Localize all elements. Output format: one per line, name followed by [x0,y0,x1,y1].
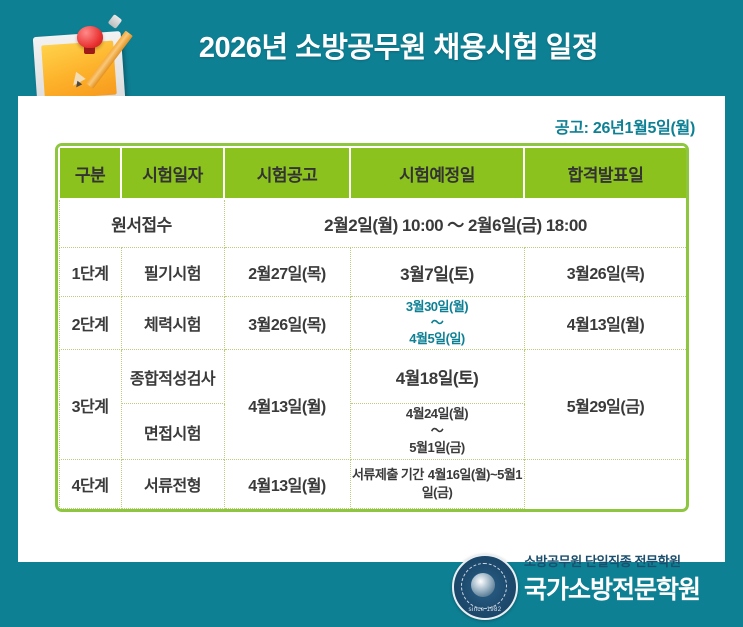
stage-3-exam-date-b-line3: 5월1일(금) [351,440,524,457]
emblem-since-text: since 1982 [454,607,516,613]
application-label: 원서접수 [59,199,224,248]
stage-1-notice-date: 2월27일(목) [224,248,350,297]
stage-4-exam-note: 서류제출 기간 4월16일(월)~5월1일(금) [350,460,524,509]
schedule-table-container: 구분 시험일자 시험공고 시험예정일 합격발표일 원서접수 2월2일(월) 10… [55,143,689,512]
stage-2-notice-date: 3월26일(목) [224,297,350,350]
stage-4-label: 4단계 [59,460,121,509]
column-header-result-date: 합격발표일 [524,147,687,199]
stage-2-exam-date-line2: ～ [351,315,524,331]
stage-3-exam-date-a: 4월18일(토) [350,350,524,404]
stage-2-name: 체력시험 [121,297,224,350]
stage-3-name-b: 면접시험 [121,404,224,460]
stage-1-label: 1단계 [59,248,121,297]
footer-brand-name: 국가소방전문학원 [524,570,700,606]
stage-3-exam-date-b: 4월24일(월) ～ 5월1일(금) [350,404,524,460]
table-row: 3단계 종합적성검사 4월13일(월) 4월18일(토) 5월29일(금) [59,350,687,404]
stage-4-notice-date: 4월13일(월) [224,460,350,509]
stage-2-result-date: 4월13일(월) [524,297,687,350]
stage-4-name: 서류전형 [121,460,224,509]
table-row-application: 원서접수 2월2일(월) 10:00 ～ 2월6일(금) 18:00 [59,199,687,248]
footer-band: since 1982 소방공무원 단일직종 전문학원 국가소방전문학원 [0,562,743,627]
stage-3-exam-date-b-line2: ～ [351,423,524,440]
header-band: 2026년 소방공무원 채용시험 일정 [0,0,743,96]
stage-4-exam-note-title: 서류제출 기간 [352,467,424,482]
table-row: 1단계 필기시험 2월27일(목) 3월7일(토) 3월26일(목) [59,248,687,297]
stage-1-name: 필기시험 [121,248,224,297]
stage-4-result-date [524,460,687,509]
stage-3-label: 3단계 [59,350,121,460]
stage-3-name-a: 종합적성검사 [121,350,224,404]
column-header-exam-date: 시험예정일 [350,147,524,199]
table-row: 4단계 서류전형 4월13일(월) 서류제출 기간 4월16일(월)~5월1일(… [59,460,687,509]
academy-emblem-icon: since 1982 [452,554,518,620]
table-header-row: 구분 시험일자 시험공고 시험예정일 합격발표일 [59,147,687,199]
poster-root: 2026년 소방공무원 채용시험 일정 공고: 26년1월5일(월) 구분 시험… [0,0,743,627]
stage-3-result-date: 5월29일(금) [524,350,687,460]
stage-3-exam-date-b-line1: 4월24일(월) [351,406,524,423]
stage-1-exam-date: 3월7일(토) [350,248,524,297]
column-header-exam-name: 시험일자 [121,147,224,199]
stage-4-exam-note-detail: 4월16일(월)~5월1일(금) [422,467,522,500]
emblem-core [471,573,495,597]
stage-2-exam-date-line1: 3월30일(월) [351,299,524,315]
announcement-note: 공고: 26년1월5일(월) [555,114,695,138]
stage-3-notice-date: 4월13일(월) [224,350,350,460]
page-title: 2026년 소방공무원 채용시험 일정 [0,24,743,66]
content-sheet: 공고: 26년1월5일(월) 구분 시험일자 시험공고 시험예정일 합격발표일 [18,96,725,562]
column-header-notice: 시험공고 [224,147,350,199]
stage-2-exam-date: 3월30일(월) ～ 4월5일(일) [350,297,524,350]
schedule-table: 구분 시험일자 시험공고 시험예정일 합격발표일 원서접수 2월2일(월) 10… [58,146,688,509]
stage-1-result-date: 3월26일(목) [524,248,687,297]
table-row: 2단계 체력시험 3월26일(목) 3월30일(월) ～ 4월5일(일) 4월1… [59,297,687,350]
page-title-text: 2026년 소방공무원 채용시험 일정 [145,24,598,66]
application-period: 2월2일(월) 10:00 ～ 2월6일(금) 18:00 [224,199,687,248]
stage-2-exam-date-line3: 4월5일(일) [351,331,524,347]
column-header-gubun: 구분 [59,147,121,199]
stage-2-label: 2단계 [59,297,121,350]
footer-tagline: 소방공무원 단일직종 전문학원 [524,551,681,570]
